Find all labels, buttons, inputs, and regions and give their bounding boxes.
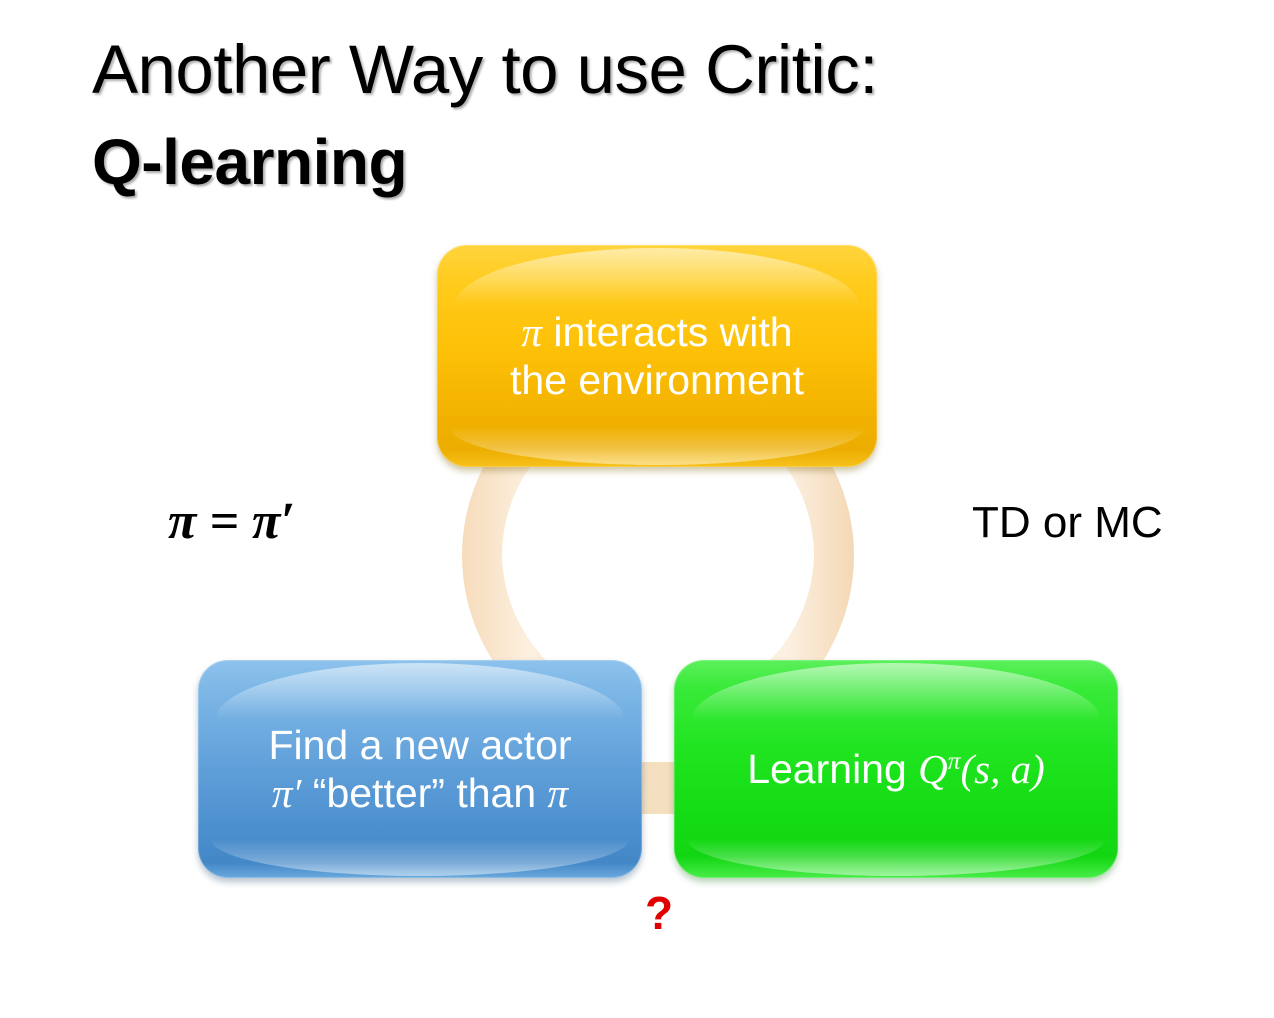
pi-prime-symbol: π′ (272, 770, 302, 816)
pi-equals-label: π = π′ (168, 492, 295, 551)
find-new-actor-box[interactable]: Find a new actor π′ “better” than π (198, 660, 642, 878)
learning-q-box-label: Learning Qπ(s, a) (733, 745, 1059, 793)
page-title: Another Way to use Critic: Q-learning (92, 34, 1192, 196)
pi-symbol: π (521, 309, 542, 355)
box-highlight-top (455, 248, 860, 306)
learning-q-box[interactable]: Learning Qπ(s, a) (674, 660, 1118, 878)
q-symbol: Q (918, 746, 948, 792)
pi-interacts-box-label: π interacts with the environment (496, 308, 818, 405)
find-new-actor-box-label: Find a new actor π′ “better” than π (254, 721, 585, 818)
box-highlight-bottom (450, 427, 864, 465)
title-line-secondary: Q-learning (92, 129, 1192, 196)
pi-interacts-line1-rest: interacts with (542, 309, 793, 355)
box-highlight-bottom (687, 839, 1104, 876)
slide-canvas: Another Way to use Critic: Q-learning (0, 0, 1274, 1018)
pi-interacts-box[interactable]: π interacts with the environment (437, 245, 877, 467)
question-mark-annotation: ? (636, 890, 682, 936)
box-highlight-top (216, 663, 625, 720)
pi-symbol: π (548, 770, 569, 816)
box-highlight-top (692, 663, 1101, 720)
box-highlight-bottom (211, 839, 628, 876)
title-line-primary: Another Way to use Critic: (92, 34, 1192, 105)
pi-interacts-line2: the environment (510, 357, 804, 403)
find-actor-line1: Find a new actor (268, 722, 571, 768)
td-or-mc-label: TD or MC (972, 498, 1163, 548)
learning-prefix: Learning (747, 746, 918, 792)
q-arguments: (s, a) (961, 746, 1045, 792)
find-actor-line2-mid: “better” than (301, 770, 547, 816)
q-superscript-pi: π (948, 747, 961, 775)
